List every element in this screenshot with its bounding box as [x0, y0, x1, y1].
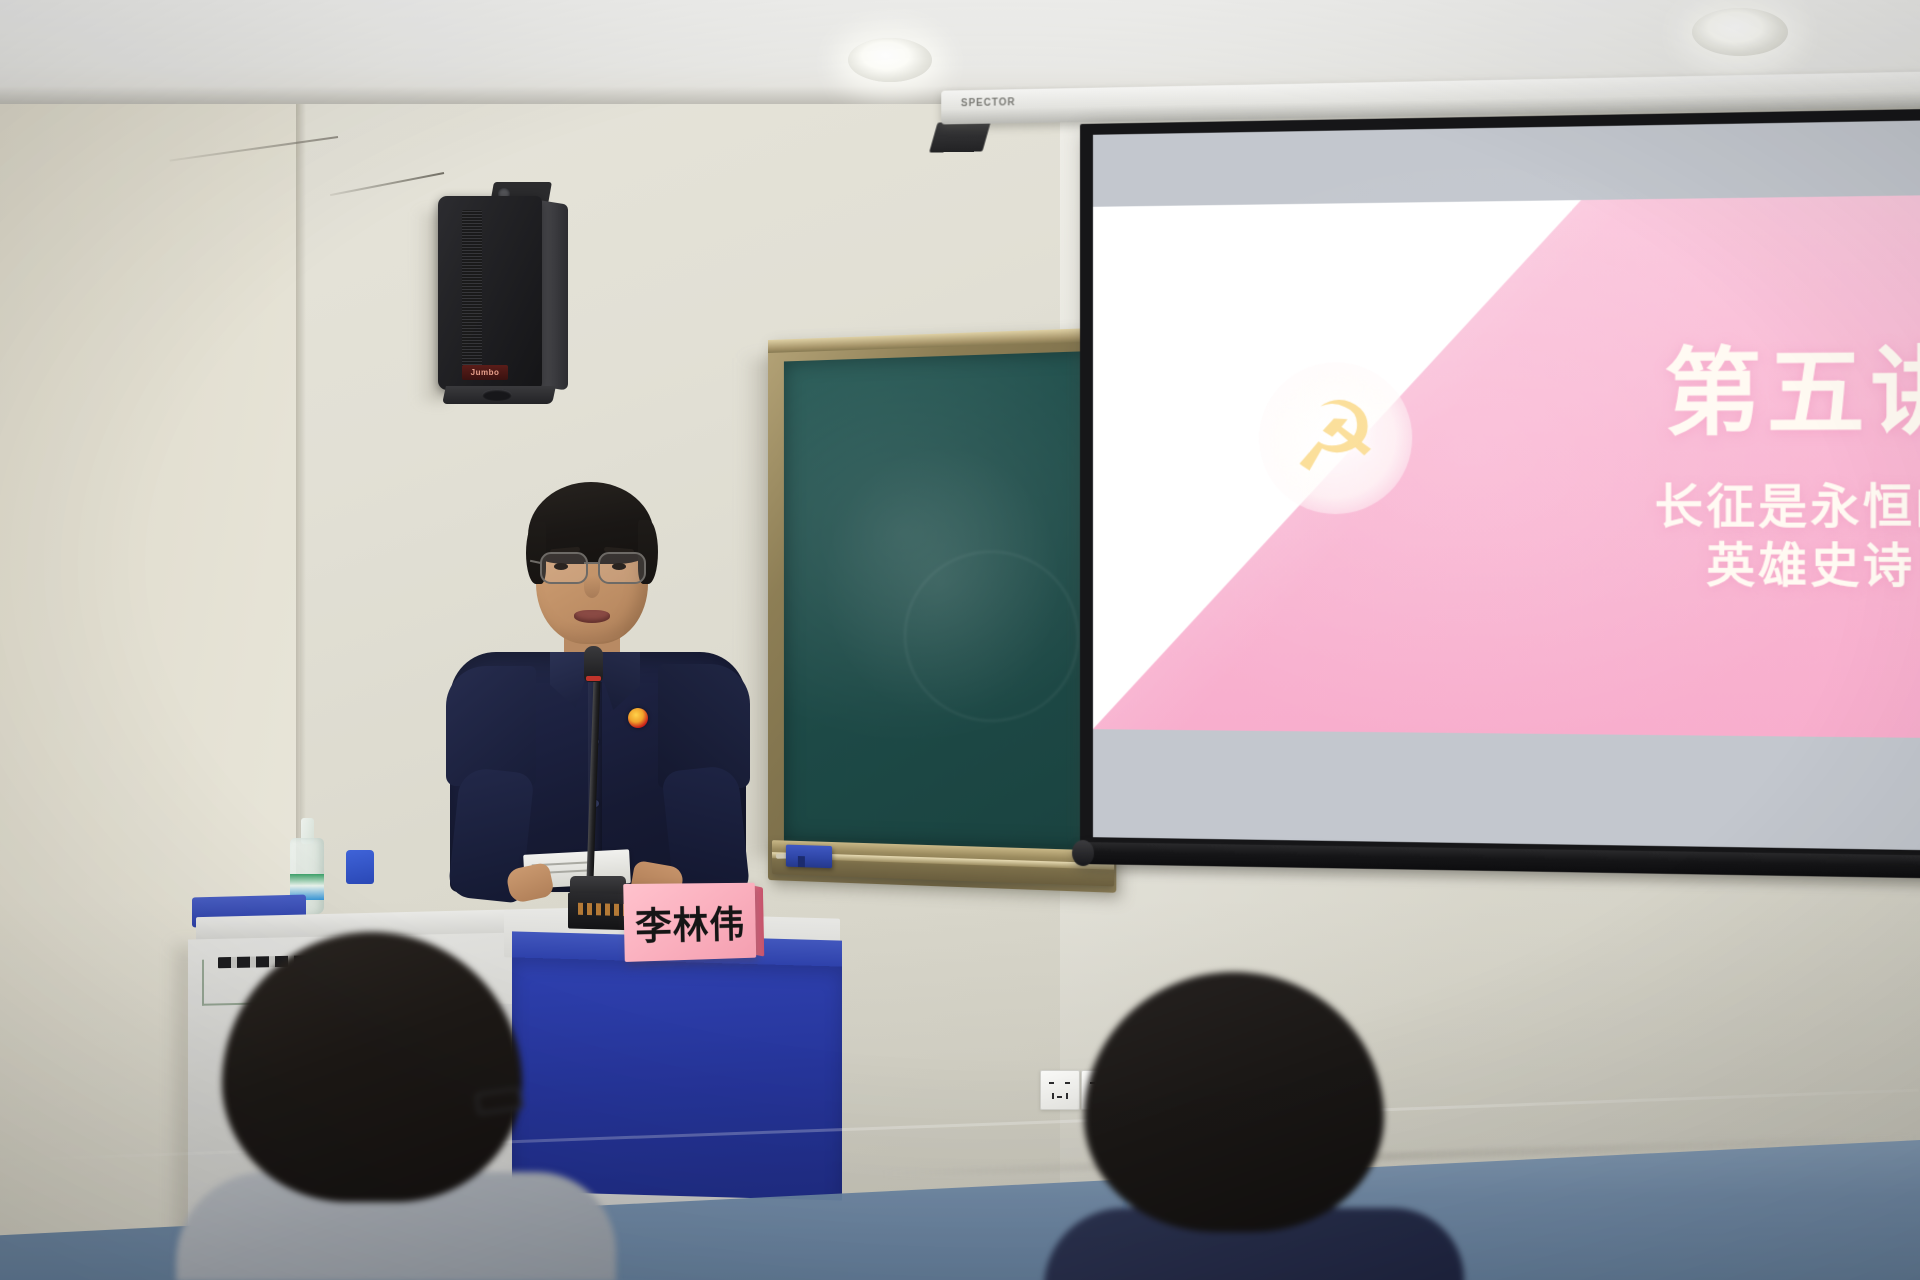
speaker-port — [482, 389, 512, 401]
speaker-brand-label: Jumbo — [462, 365, 508, 380]
chalkboard-frame — [768, 327, 1116, 893]
slide-pink-gradient — [1093, 195, 1920, 738]
slide-content: ☭ 第五讲 长征是永恒的 英雄史诗 — [1093, 195, 1920, 738]
presenter — [452, 470, 742, 890]
screen-border: ☭ 第五讲 长征是永恒的 英雄史诗 — [1080, 108, 1920, 862]
chalkboard-eraser-icon — [786, 845, 832, 869]
slide-lecture-number: 第五讲 — [1664, 314, 1920, 453]
name-placard: 李林伟 — [623, 883, 756, 962]
hammer-and-sickle-icon: ☭ — [1259, 361, 1412, 513]
slide-subtitle: 长征是永恒的 英雄史诗 — [1655, 477, 1920, 594]
presenter-shoulder-left — [446, 666, 536, 786]
slide-subtitle-line-1: 长征是永恒的 — [1655, 477, 1920, 535]
projection-screen: SPECTOR ☭ 第五讲 长征是永恒的 英雄史诗 — [1080, 108, 1920, 899]
lecture-photo-scene: Jumbo SPECTOR — [0, 0, 1920, 1280]
party-emblem-pin-icon — [628, 708, 648, 728]
blue-bottle-cap — [346, 850, 374, 884]
presenter-chin — [560, 622, 624, 642]
chalkboard — [768, 340, 1103, 880]
chalkboard-eraser-notch — [798, 856, 805, 867]
presenter-eye-right — [612, 563, 626, 570]
audience-right-head — [1084, 972, 1384, 1232]
audience-member-right — [1034, 972, 1464, 1280]
wall-speaker: Jumbo — [438, 196, 562, 392]
ceiling-downlight-left — [848, 38, 932, 82]
presenter-nose — [584, 576, 600, 598]
screen-bottom-bar-cap — [1072, 840, 1094, 866]
screen-canvas: ☭ 第五讲 长征是永恒的 英雄史诗 — [1093, 120, 1920, 850]
microphone-indicator — [586, 676, 601, 681]
ceiling-downlight-right — [1692, 8, 1788, 56]
screen-mount-bracket — [929, 122, 991, 153]
presenter-name-text: 李林伟 — [635, 894, 746, 950]
speaker-front-panel — [438, 196, 542, 390]
letterbox-bottom — [1093, 729, 1920, 850]
audience-left-head — [222, 932, 522, 1202]
name-placard-face: 李林伟 — [623, 883, 756, 962]
chalkboard-surface — [784, 350, 1110, 850]
slide-subtitle-line-2: 英雄史诗 — [1655, 535, 1920, 594]
letterbox-top — [1093, 120, 1920, 207]
speaker-grille — [462, 210, 482, 374]
eyeglass-bridge — [584, 562, 598, 564]
presenter-eye-left — [554, 563, 568, 570]
screen-brand-label: SPECTOR — [961, 97, 1016, 109]
audience-member-left — [176, 932, 616, 1280]
